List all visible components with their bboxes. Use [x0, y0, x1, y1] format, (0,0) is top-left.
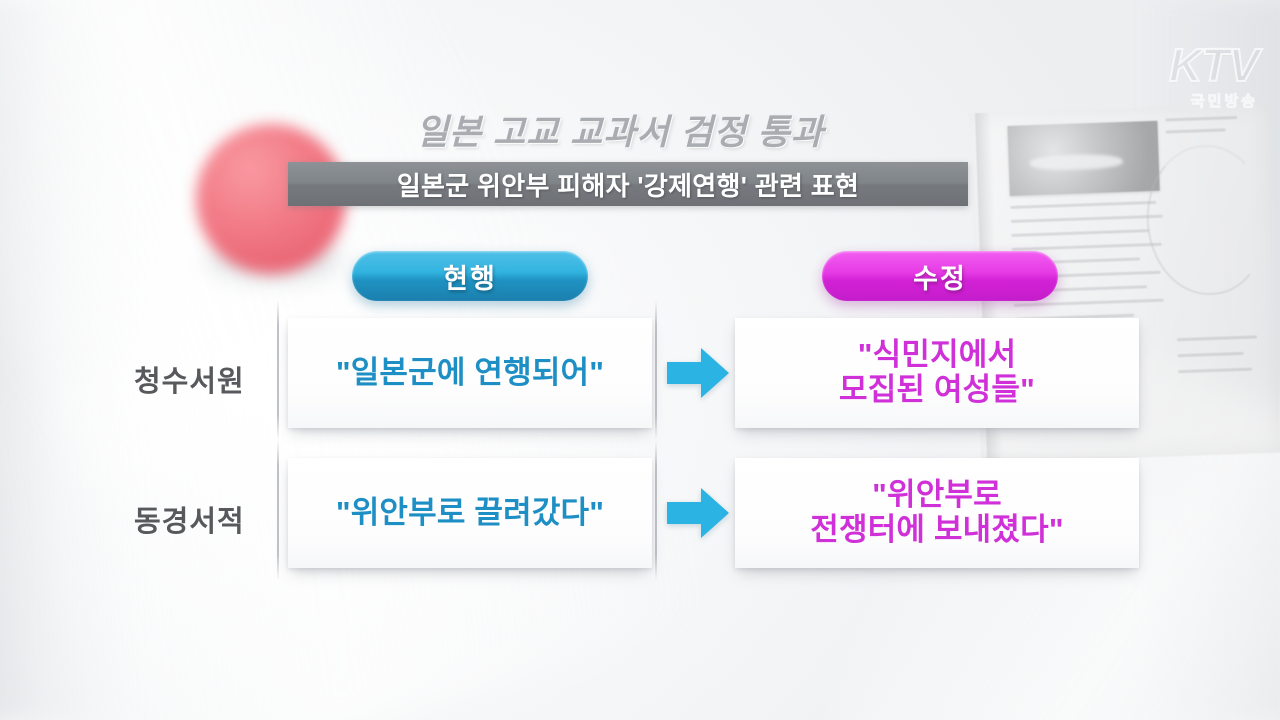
subtitle-bar: 일본군 위안부 피해자 '강제연행' 관련 표현 — [288, 162, 968, 206]
row-divider — [655, 440, 657, 580]
column-badge-current: 현행 — [352, 251, 588, 301]
background-shadow-left — [0, 0, 140, 720]
row-label-publisher-2: 동경서적 — [134, 498, 245, 540]
row-divider — [277, 440, 279, 580]
subtitle-text: 일본군 위안부 피해자 '강제연행' 관련 표현 — [397, 166, 859, 203]
cell-current-2-text: "위안부로 끌려갔다" — [336, 496, 604, 531]
ktv-watermark-icon: KTV 국민방송 — [1068, 42, 1258, 114]
cell-revised-2-text: "위안부로 전쟁터에 보내졌다" — [810, 478, 1063, 547]
column-badge-revised: 수정 — [822, 251, 1058, 301]
cell-current-2: "위안부로 끌려갔다" — [288, 458, 652, 568]
row-label-publisher-1: 청수서원 — [134, 358, 245, 400]
arrow-right-icon — [665, 345, 731, 401]
column-badge-current-label: 현행 — [443, 257, 497, 296]
cell-revised-2: "위안부로 전쟁터에 보내졌다" — [735, 458, 1139, 568]
row-divider — [277, 300, 279, 440]
column-badge-revised-label: 수정 — [913, 257, 967, 296]
ktv-logo-text: KTV — [1068, 42, 1258, 88]
arrow-right-icon — [665, 485, 731, 541]
textbook-inset-photo — [1007, 121, 1159, 196]
page-title: 일본 고교 교과서 검정 통과 — [300, 104, 940, 155]
cell-current-1: "일본군에 연행되어" — [288, 318, 652, 428]
cell-revised-1-text: "식민지에서 모집된 여성들" — [839, 338, 1035, 407]
broadcast-graphic: KTV 국민방송 일본 고교 교과서 검정 통과 일본군 위안부 피해자 '강제… — [0, 0, 1280, 720]
row-divider — [655, 300, 657, 440]
cell-revised-1: "식민지에서 모집된 여성들" — [735, 318, 1139, 428]
cell-current-1-text: "일본군에 연행되어" — [336, 356, 604, 391]
